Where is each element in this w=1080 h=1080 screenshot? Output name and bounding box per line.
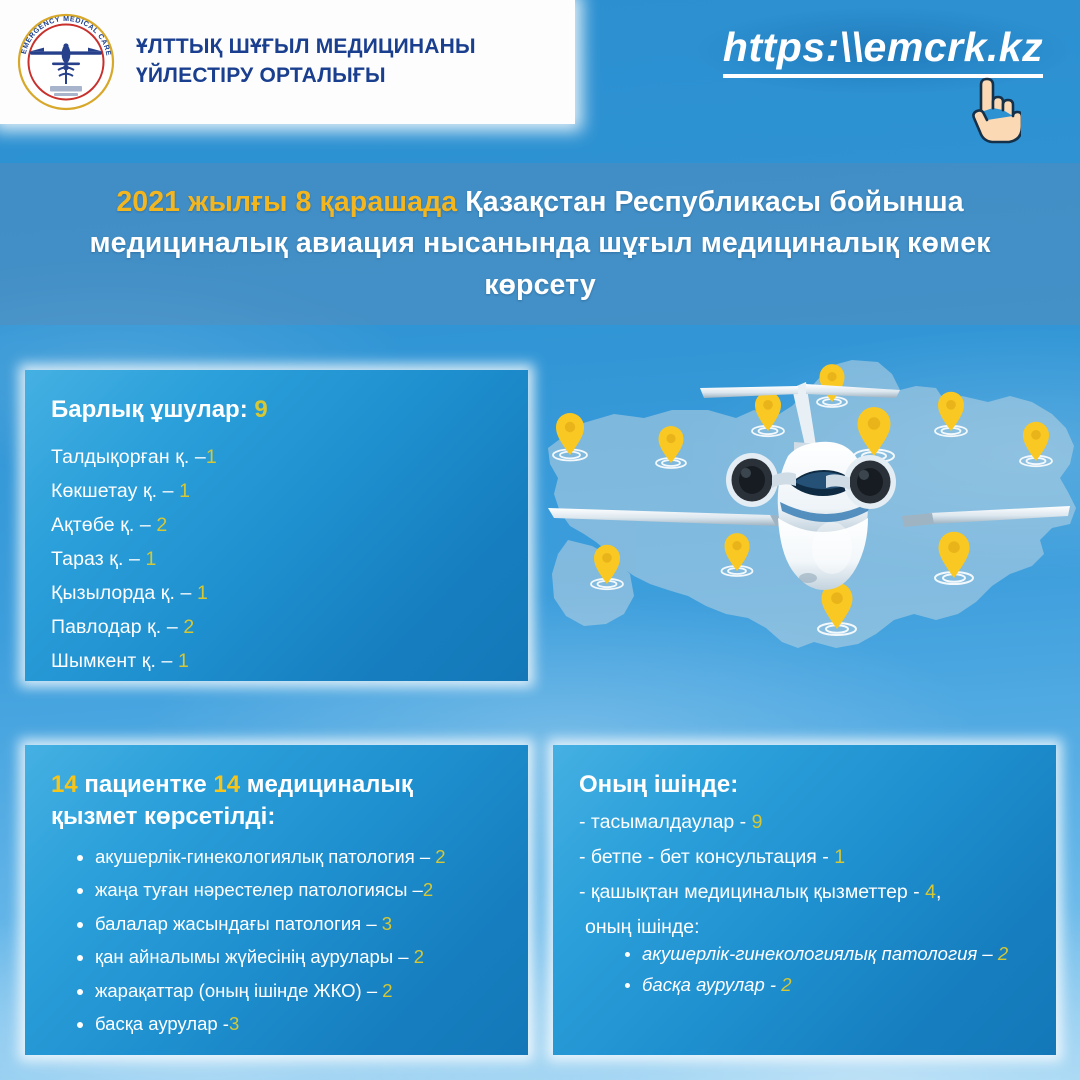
list-item: - тасымалдаулар - 9 — [579, 811, 1030, 835]
list-item: Ақтөбе қ. – 2 — [51, 516, 502, 536]
list-item: акушерлік-гинекологиялық патология – 2 — [77, 848, 502, 867]
flight-city: Талдықорған қ. – — [51, 446, 206, 468]
flight-city: Ақтөбе қ. – — [51, 514, 156, 536]
breakdown-list: - тасымалдаулар - 9 - бетпе - бет консул… — [579, 811, 1030, 904]
patient-count: 2 — [382, 980, 392, 1001]
list-item: жарақаттар (оның ішінде ЖКО) – 2 — [77, 982, 502, 1001]
flight-city: Павлодар қ. – — [51, 616, 183, 638]
flights-card: Барлық ұшулар: 9 Талдықорған қ. –1 Көкше… — [25, 370, 528, 681]
patients-card: 14 пациентке 14 медициналық қызмет көрсе… — [25, 745, 528, 1055]
list-item: басқа аурулар -3 — [77, 1015, 502, 1034]
organization-name-line2: ҮЙЛЕСТІРУ ОРТАЛЫҒЫ — [136, 62, 476, 91]
flights-heading: Барлық ұшулар: 9 — [51, 394, 502, 426]
flight-count: 2 — [156, 514, 167, 536]
list-item: - бетпе - бет консультация - 1 — [579, 846, 1030, 870]
patient-count: 3 — [382, 913, 392, 934]
breakdown-sub-list: акушерлік-гинекологиялық патология – 2 б… — [625, 945, 1030, 995]
patient-label: басқа аурулар - — [95, 1013, 229, 1034]
pointing-hand-cursor-icon — [961, 72, 1021, 144]
organization-name-line1: ҰЛТТЫҚ ШҰҒЫЛ МЕДИЦИНАНЫ — [136, 33, 476, 62]
list-item: Тараз қ. – 1 — [51, 550, 502, 570]
website-url-text: https:\\emcrk.kz — [723, 24, 1043, 78]
flight-count: 1 — [179, 480, 190, 502]
list-item: Қызылорда қ. – 1 — [51, 584, 502, 604]
patient-label: жарақаттар (оның ішінде ЖКО) – — [95, 980, 382, 1001]
patient-label: балалар жасындағы патология – — [95, 913, 382, 934]
breakdown-count: 4 — [925, 881, 936, 903]
list-item: Шымкент қ. – 1 — [51, 652, 502, 672]
flight-city: Қызылорда қ. – — [51, 582, 197, 604]
flight-count: 1 — [178, 650, 189, 672]
patient-label: акушерлік-гинекологиялық патология – — [95, 846, 435, 867]
organization-name: ҰЛТТЫҚ ШҰҒЫЛ МЕДИЦИНАНЫ ҮЙЛЕСТІРУ ОРТАЛЫ… — [136, 33, 476, 91]
patient-label: қан айналымы жүйесінің аурулары – — [95, 946, 414, 967]
list-item: балалар жасындағы патология – 3 — [77, 915, 502, 934]
flight-count: 2 — [183, 616, 194, 638]
list-item: Көкшетау қ. – 1 — [51, 482, 502, 502]
flight-city: Тараз қ. – — [51, 548, 145, 570]
patient-count: 2 — [435, 846, 445, 867]
flight-count: 1 — [197, 582, 208, 604]
patients-heading: 14 пациентке 14 медициналық қызмет көрсе… — [51, 769, 502, 834]
flight-city: Көкшетау қ. – — [51, 480, 179, 502]
flights-total-value: 9 — [254, 396, 267, 423]
infographic-poster: EMERGENCY MEDICAL CARE OF KAZAKHSTAN — [0, 0, 1080, 1080]
flight-count: 1 — [206, 446, 217, 468]
patients-list: акушерлік-гинекологиялық патология – 2 ж… — [51, 848, 502, 1034]
sub-label: акушерлік-гинекологиялық патология – — [642, 943, 998, 964]
breakdown-card: Оның ішінде: - тасымалдаулар - 9 - бетпе… — [553, 745, 1056, 1055]
breakdown-label: - бетпе - бет консультация - — [579, 846, 834, 868]
list-item: - қашықтан медициналық қызметтер - 4, — [579, 881, 1030, 905]
title-highlight: 2021 жылғы 8 қарашада — [116, 186, 457, 218]
flights-list: Талдықорған қ. –1 Көкшетау қ. – 1 Ақтөбе… — [51, 448, 502, 672]
breakdown-sub-note: оның ішінде: — [585, 916, 1030, 939]
patient-label: жаңа туған нәрестелер патологиясы – — [95, 879, 423, 900]
patient-count: 3 — [229, 1013, 239, 1034]
flights-heading-label: Барлық ұшулар: — [51, 396, 248, 423]
breakdown-suffix: , — [936, 881, 941, 903]
breakdown-heading: Оның ішінде: — [579, 769, 1030, 801]
list-item: Павлодар қ. – 2 — [51, 618, 502, 638]
breakdown-count: 9 — [752, 811, 763, 833]
title-band: 2021 жылғы 8 қарашада Қазақстан Республи… — [0, 163, 1080, 325]
breakdown-count: 1 — [834, 846, 845, 868]
flight-city: Шымкент қ. – — [51, 650, 178, 672]
list-item: Талдықорған қ. –1 — [51, 448, 502, 468]
page-title: 2021 жылғы 8 қарашада Қазақстан Республи… — [60, 182, 1020, 305]
breakdown-label: - тасымалдаулар - — [579, 811, 752, 833]
sub-count: 2 — [781, 974, 791, 995]
patient-count: 2 — [414, 946, 424, 967]
patients-count-1: 14 — [51, 771, 78, 798]
list-item: қан айналымы жүйесінің аурулары – 2 — [77, 948, 502, 967]
emergency-medical-care-of-kazakhstan-emblem: EMERGENCY MEDICAL CARE OF KAZAKHSTAN — [14, 10, 118, 114]
flight-count: 1 — [145, 548, 156, 570]
sub-label: басқа аурулар - — [642, 974, 781, 995]
breakdown-label: - қашықтан медициналық қызметтер - — [579, 881, 925, 903]
list-item: жаңа туған нәрестелер патологиясы –2 — [77, 881, 502, 900]
sub-count: 2 — [998, 943, 1008, 964]
patients-heading-mid: пациентке — [78, 771, 214, 798]
map-and-plane-illustration — [540, 352, 1080, 692]
header-panel: EMERGENCY MEDICAL CARE OF KAZAKHSTAN — [0, 0, 575, 124]
patients-count-2: 14 — [213, 771, 240, 798]
patient-count: 2 — [423, 879, 433, 900]
list-item: басқа аурулар - 2 — [625, 976, 1030, 995]
list-item: акушерлік-гинекологиялық патология – 2 — [625, 945, 1030, 964]
website-url-link[interactable]: https:\\emcrk.kz — [718, 22, 1048, 80]
